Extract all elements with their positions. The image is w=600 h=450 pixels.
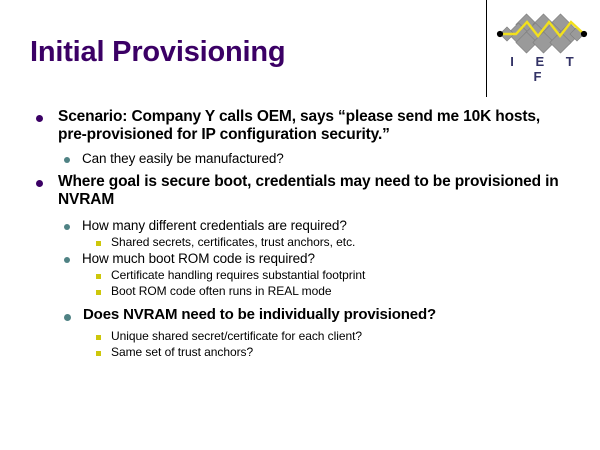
bullet-item-level2: Can they easily be manufactured? — [64, 151, 570, 167]
bullet-marker-level3-icon — [96, 335, 101, 340]
bullet-text: Unique shared secret/certificate for eac… — [111, 329, 570, 344]
bullet-marker-level2-icon — [64, 157, 70, 163]
spacer — [0, 211, 600, 218]
slide-root: { "slide": { "title": "Initial Provision… — [0, 0, 600, 450]
bullet-item-level1: Scenario: Company Y calls OEM, says “ple… — [36, 108, 570, 143]
bullet-text: How many different credentials are requi… — [82, 218, 570, 234]
bullet-text: Certificate handling requires substantia… — [111, 268, 570, 283]
bullet-item-level2-emphasis: Does NVRAM need to be individually provi… — [64, 307, 570, 323]
bullet-item-level3: Shared secrets, certificates, trust anch… — [96, 235, 570, 250]
bullet-text: Where goal is secure boot, credentials m… — [58, 173, 570, 208]
bullet-marker-level3-icon — [96, 274, 101, 279]
bullet-marker-level1-icon — [36, 180, 43, 187]
ietf-wordmark: I E T F — [494, 54, 590, 84]
bullet-text: Same set of trust anchors? — [111, 345, 570, 360]
bullet-marker-level1-icon — [36, 115, 43, 122]
bullet-marker-level2-icon — [64, 257, 70, 263]
bullet-text: Can they easily be manufactured? — [82, 151, 570, 167]
bullet-item-level3: Certificate handling requires substantia… — [96, 268, 570, 283]
bullet-text: How much boot ROM code is required? — [82, 251, 570, 267]
bullet-item-level1: Where goal is secure boot, credentials m… — [36, 173, 570, 208]
bullet-text: Shared secrets, certificates, trust anch… — [111, 235, 570, 250]
bullet-marker-level2-icon — [64, 314, 71, 321]
bullet-item-level2: How much boot ROM code is required? — [64, 251, 570, 267]
bullet-marker-level3-icon — [96, 241, 101, 246]
bullet-marker-level2-icon — [64, 224, 70, 230]
header-divider — [486, 0, 487, 97]
bullet-text: Scenario: Company Y calls OEM, says “ple… — [58, 108, 570, 143]
bullet-item-level3: Unique shared secret/certificate for eac… — [96, 329, 570, 344]
bullet-text: Does NVRAM need to be individually provi… — [83, 307, 570, 323]
bullet-item-level3: Same set of trust anchors? — [96, 345, 570, 360]
bullet-item-level3: Boot ROM code often runs in REAL mode — [96, 284, 570, 299]
page-title: Initial Provisioning — [30, 36, 285, 69]
bullet-text: Boot ROM code often runs in REAL mode — [111, 284, 570, 299]
ietf-diamond-mark-icon — [494, 10, 590, 58]
slide-body: Scenario: Company Y calls OEM, says “ple… — [0, 108, 600, 361]
bullet-marker-level3-icon — [96, 290, 101, 295]
bullet-marker-level3-icon — [96, 351, 101, 356]
bullet-item-level2: How many different credentials are requi… — [64, 218, 570, 234]
ietf-logo: I E T F — [494, 10, 590, 82]
